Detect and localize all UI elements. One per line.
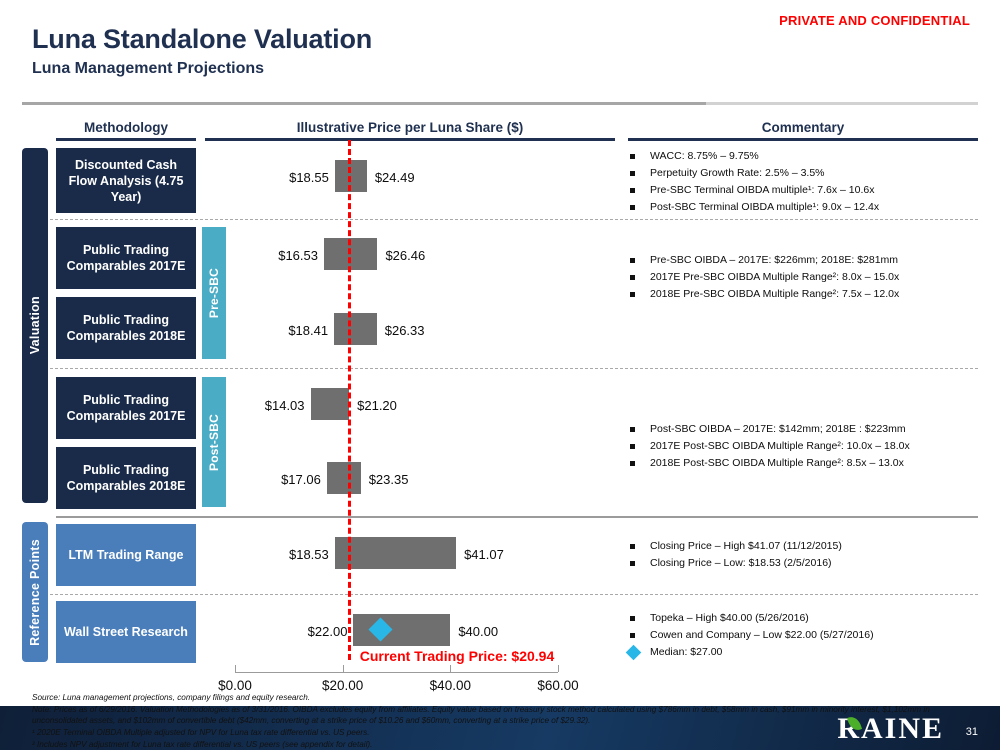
column-header-commentary: Commentary xyxy=(628,120,978,135)
current-trading-price-line xyxy=(348,140,351,660)
column-header-methodology: Methodology xyxy=(56,120,196,135)
bar-high-label: $23.35 xyxy=(369,473,409,486)
axis-tick-label: $20.00 xyxy=(308,678,378,693)
bar-high-label: $21.20 xyxy=(357,399,397,412)
footnote-1: ¹ 2020E Terminal OIBDA Multiple adjusted… xyxy=(32,727,932,739)
commentary-research: Topeka – High $40.00 (5/26/2016) Cowen a… xyxy=(628,610,978,661)
footnote-note: Note: Prices as of 6/29/2016. Valuation … xyxy=(32,704,932,727)
footnote-2: ² Includes NPV adjustment for Luna tax r… xyxy=(32,739,932,750)
group-rail-reference-points-label: Reference Points xyxy=(28,539,42,646)
commentary-pre-sbc: Pre-SBC OIBDA – 2017E: $226mm; 2018E: $2… xyxy=(628,252,978,303)
group-rail-valuation: Valuation xyxy=(22,148,48,503)
methodology-box-ptc-2017e-post[interactable]: Public Trading Comparables 2017E xyxy=(56,377,196,439)
commentary-item: 2018E Post-SBC OIBDA Multiple Range²: 8.… xyxy=(628,455,978,472)
commentary-item: Post-SBC Terminal OIBDA multiple¹: 9.0x … xyxy=(628,199,978,216)
axis-tick-label: $60.00 xyxy=(523,678,593,693)
header-divider-light xyxy=(706,102,978,105)
methodology-box-ptc-2017e-pre[interactable]: Public Trading Comparables 2017E xyxy=(56,227,196,289)
commentary-item: 2017E Post-SBC OIBDA Multiple Range²: 10… xyxy=(628,438,978,455)
sbc-rail-pre-label: Pre-SBC xyxy=(207,268,221,318)
divider-ltm-research xyxy=(50,594,978,595)
value-bar xyxy=(353,614,450,646)
footnotes: Source: Luna management projections, com… xyxy=(32,692,932,750)
axis-line xyxy=(235,672,558,673)
value-bar xyxy=(335,537,456,569)
column-header-price: Illustrative Price per Luna Share ($) xyxy=(205,120,615,135)
commentary-item: Closing Price – High $41.07 (11/12/2015) xyxy=(628,538,978,555)
footnote-source: Source: Luna management projections, com… xyxy=(32,692,932,704)
commentary-item: Perpetuity Growth Rate: 2.5% – 3.5% xyxy=(628,165,978,182)
axis-tick xyxy=(343,665,344,672)
current-trading-price-label: Current Trading Price: $20.94 xyxy=(360,648,555,664)
commentary-item: Pre-SBC OIBDA – 2017E: $226mm; 2018E: $2… xyxy=(628,252,978,269)
bar-high-label: $41.07 xyxy=(464,548,504,561)
axis-tick-label: $0.00 xyxy=(200,678,270,693)
axis-tick xyxy=(450,665,451,672)
column-rule-methodology xyxy=(56,138,196,141)
confidential-banner: PRIVATE AND CONFIDENTIAL xyxy=(779,13,970,28)
value-bar xyxy=(311,388,350,420)
commentary-item: Cowen and Company – Low $22.00 (5/27/201… xyxy=(628,627,978,644)
commentary-item: Pre-SBC Terminal OIBDA multiple¹: 7.6x –… xyxy=(628,182,978,199)
bar-low-label: $17.06 xyxy=(261,473,321,486)
commentary-item: 2018E Pre-SBC OIBDA Multiple Range²: 7.5… xyxy=(628,286,978,303)
bar-high-label: $26.46 xyxy=(385,249,425,262)
page-title: Luna Standalone Valuation xyxy=(32,24,372,55)
commentary-item: 2017E Pre-SBC OIBDA Multiple Range²: 8.0… xyxy=(628,269,978,286)
divider-presbc-postsbc xyxy=(50,368,978,369)
methodology-box-wall-street-research[interactable]: Wall Street Research xyxy=(56,601,196,663)
page-subtitle: Luna Management Projections xyxy=(32,60,264,78)
column-rule-price xyxy=(205,138,615,141)
commentary-item-median: Median: $27.00 xyxy=(628,644,978,661)
axis-tick xyxy=(558,665,559,672)
commentary-dcf: WACC: 8.75% – 9.75% Perpetuity Growth Ra… xyxy=(628,148,978,216)
bar-low-label: $14.03 xyxy=(245,399,305,412)
sbc-rail-pre: Pre-SBC xyxy=(202,227,226,359)
commentary-ltm: Closing Price – High $41.07 (11/12/2015)… xyxy=(628,538,978,572)
column-rule-commentary xyxy=(628,138,978,141)
commentary-item: Post-SBC OIBDA – 2017E: $142mm; 2018E : … xyxy=(628,421,978,438)
bar-low-label: $18.55 xyxy=(269,171,329,184)
divider-dcf-presbc xyxy=(50,219,978,220)
bar-high-label: $24.49 xyxy=(375,171,415,184)
axis-tick xyxy=(235,665,236,672)
commentary-post-sbc: Post-SBC OIBDA – 2017E: $142mm; 2018E : … xyxy=(628,421,978,472)
methodology-box-dcf[interactable]: Discounted Cash Flow Analysis (4.75 Year… xyxy=(56,148,196,213)
bar-high-label: $26.33 xyxy=(385,324,425,337)
value-bar xyxy=(334,313,377,345)
methodology-box-ptc-2018e-pre[interactable]: Public Trading Comparables 2018E xyxy=(56,297,196,359)
group-rail-reference-points: Reference Points xyxy=(22,522,48,662)
value-bar xyxy=(327,462,361,494)
bar-low-label: $18.53 xyxy=(269,548,329,561)
commentary-item: Closing Price – Low: $18.53 (2/5/2016) xyxy=(628,555,978,572)
bar-low-label: $16.53 xyxy=(258,249,318,262)
commentary-item: WACC: 8.75% – 9.75% xyxy=(628,148,978,165)
bar-low-label: $22.00 xyxy=(287,625,347,638)
methodology-box-ltm-trading-range[interactable]: LTM Trading Range xyxy=(56,524,196,586)
bar-low-label: $18.41 xyxy=(268,324,328,337)
page-number: 31 xyxy=(966,726,978,738)
bar-high-label: $40.00 xyxy=(458,625,498,638)
commentary-item: Topeka – High $40.00 (5/26/2016) xyxy=(628,610,978,627)
sbc-rail-post-label: Post-SBC xyxy=(207,414,221,471)
methodology-box-ptc-2018e-post[interactable]: Public Trading Comparables 2018E xyxy=(56,447,196,509)
sbc-rail-post: Post-SBC xyxy=(202,377,226,507)
group-rail-valuation-label: Valuation xyxy=(28,296,42,354)
value-bar xyxy=(335,160,367,192)
divider-valuation-reference xyxy=(56,516,978,518)
slide-root: PRIVATE AND CONFIDENTIAL Luna Standalone… xyxy=(0,0,1000,750)
axis-tick-label: $40.00 xyxy=(415,678,485,693)
